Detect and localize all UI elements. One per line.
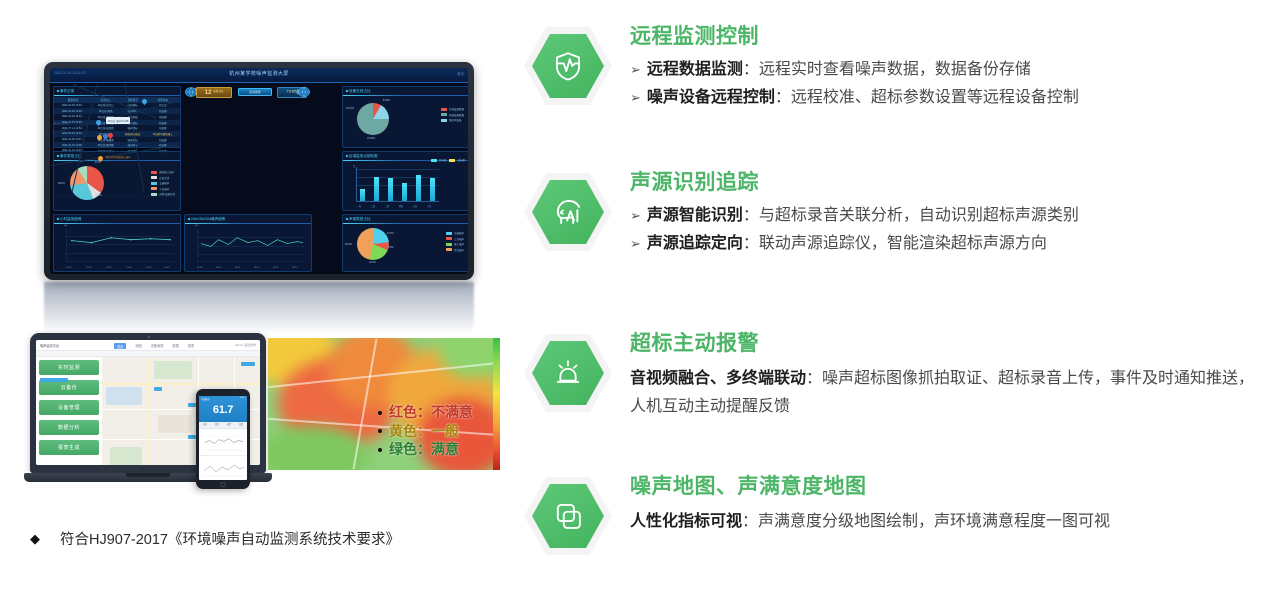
axis-tick: 四区	[399, 204, 403, 208]
sidebar-item-realtime[interactable]: 实时监测	[39, 360, 99, 375]
legend-swatch	[151, 187, 157, 190]
dashboard-title: 杭州某学校噪声监测大屏	[50, 70, 468, 77]
legend-swatch	[151, 171, 157, 174]
bullet-dot	[378, 429, 382, 433]
legend-swatch	[441, 113, 447, 116]
map-road	[102, 383, 260, 385]
widget-realtime-button[interactable]: 实时监测	[238, 88, 272, 96]
pie-chart-device-online	[357, 103, 389, 135]
pie-label: 8.33%	[383, 99, 390, 102]
panel-pie-event-type: 事件类型占比 34.8% 9.1% 28.6% 18.2% 建筑施工噪声 社会生…	[53, 151, 181, 211]
arrow-bullet-icon: ➢	[630, 86, 641, 110]
left-visuals-column: 2021-01-15 13:02:23 杭州某学校噪声监测大屏 首页 事件记录 …	[0, 0, 520, 598]
axis-tick: 六区	[427, 204, 431, 208]
pie-label: 8.5%	[388, 246, 393, 249]
panel-title-line-left: 小时监测趋势	[54, 215, 180, 224]
legend-item: 离线设备数量	[441, 113, 464, 117]
sidebar-item-report-gen[interactable]: 报表生成	[39, 440, 99, 455]
satisfaction-heatmap: 红色：不满意 黄色：一般 绿色：满意	[268, 338, 500, 470]
legend-label: 在线设备数量	[449, 107, 464, 111]
pie-label: 23.0%	[387, 232, 394, 235]
bar-chart-area	[356, 167, 439, 202]
legend-swatch	[441, 119, 447, 122]
line-svg	[197, 229, 305, 262]
tab-trend[interactable]: 趋势	[211, 422, 223, 428]
bullet-strong: 远程数据监测	[647, 61, 743, 78]
feature-2-text: 声源识别追踪 ➢ 声源智能识别：与超标录音关联分析，自动识别超标声源类别 ➢ 声…	[616, 164, 1268, 260]
legend-item: 社会生活	[151, 176, 175, 180]
line-chart-trend	[197, 229, 305, 262]
legend-item: 生活噪声	[446, 248, 464, 252]
carrier-label: 中国移动	[201, 397, 210, 401]
menu-item-home[interactable]: 首页	[114, 343, 126, 349]
feature-4-text: 噪声地图、声满意度地图 人性化指标可视：声满意度分级地图绘制，声环境满意程度一图…	[616, 468, 1268, 564]
ai-head-icon	[551, 195, 585, 229]
menu-item-map[interactable]: 地图	[135, 343, 141, 349]
app-sidebar: 实时监测 云备份 设备管理 数据分析 报表生成	[36, 357, 102, 465]
hex-badge-4	[520, 468, 616, 564]
legend-label: 离线设备数量	[449, 113, 464, 117]
webcam-icon	[148, 336, 150, 338]
feature-4-paragraph: 人性化指标可视：声满意度分级地图绘制，声环境满意程度一图可视	[630, 508, 1268, 536]
gridline	[356, 185, 439, 186]
feature-1-text: 远程监测控制 ➢ 远程数据监测：远程实时查看噪声数据，数据备份存储 ➢ 噪声设备…	[616, 18, 1268, 114]
axis-tick: 16:00	[164, 267, 169, 269]
phone-header: 中国移动 100% 61.7	[199, 396, 247, 422]
map-block	[106, 387, 142, 405]
tab-alarm[interactable]: 报警	[223, 422, 235, 428]
axis-tick: 01/11	[235, 267, 240, 269]
legend-label: 其他/设备异常	[159, 192, 175, 196]
dashboard-header: 2021-01-15 13:02:23 杭州某学校噪声监测大屏 首页	[50, 68, 468, 83]
feature-3-paragraph: 音视频融合、多终端联动：噪声超标图像抓拍取证、超标录音上传，事件及时通知推送，人…	[630, 365, 1268, 420]
map-label: ·····	[162, 453, 166, 455]
pie-label: 28.6%	[58, 182, 65, 185]
slide-root: 2021-01-15 13:02:23 杭州某学校噪声监测大屏 首页 事件记录 …	[0, 0, 1268, 598]
legend-label: 社会生活	[159, 176, 169, 180]
hex-badge-2	[520, 164, 616, 260]
legend-swatch	[431, 159, 437, 162]
axis-tick: 01/12	[254, 267, 259, 269]
legend-label: 施工噪声	[454, 242, 464, 246]
legend-item: 绿色：满意	[378, 441, 473, 459]
panel-pie-source-type: 声源类型占比 23.0% 8.5% 22.0% 46.5% 交通噪声 工业噪声 …	[342, 214, 468, 272]
axis-tick: 二区	[371, 204, 375, 208]
layers-copy-icon	[551, 499, 585, 533]
app-menu: 首页 地图 设备管理 数据 报表	[114, 343, 194, 349]
legend-label-satisfied: 绿色：满意	[389, 441, 459, 459]
feature-2-line-2: ➢ 声源追踪定向：联动声源追踪仪，智能渲染超标声源方向	[630, 232, 1268, 257]
bullet-dot	[378, 448, 382, 452]
axis-tick: 13:00	[106, 267, 111, 269]
legend-label: 超标数	[439, 158, 447, 162]
battery-label: 100%	[239, 397, 245, 401]
legend-item: 超标数	[431, 158, 447, 162]
bar	[360, 189, 365, 201]
map-road	[148, 357, 150, 465]
sidebar-active-tag	[40, 378, 68, 382]
bullet-rest: ：远程实时查看噪声数据，数据备份存储	[743, 61, 1031, 78]
panel-title-pie-right: 设备在线占比	[343, 87, 468, 96]
map-alert-note: 超标声源 建筑施工噪声	[106, 156, 131, 159]
panel-line-hourly: 小时监测趋势	[53, 214, 181, 272]
legend-item: 黄色：一般	[378, 423, 473, 441]
sidebar-item-data-analysis[interactable]: 数据分析	[39, 420, 99, 435]
map-pin-red[interactable]	[108, 133, 113, 140]
bar	[374, 177, 379, 201]
map-label: ·····	[110, 377, 114, 379]
panel-title-events: 事件记录	[54, 87, 180, 96]
phone-mockup: 中国移动 100% 61.7 实时 趋势 报警 设置	[196, 389, 250, 489]
diamond-bullet-icon: ◆	[30, 531, 40, 547]
legend-label: 建筑施工噪声	[159, 170, 174, 174]
legend-item: 工业噪声	[151, 187, 175, 191]
feature-2-line-1: ➢ 声源智能识别：与超标录音关联分析，自动识别超标声源类别	[630, 204, 1268, 229]
map-pin-orange[interactable]	[97, 135, 102, 142]
axis-ylabel: dB	[195, 225, 198, 227]
pie-label: 46.5%	[345, 243, 352, 246]
phone-statusbar: 中国移动 100%	[199, 396, 247, 402]
laptop-notch	[126, 473, 170, 477]
pie-label: 16.67%	[346, 107, 354, 110]
globe-glyph	[295, 86, 311, 99]
bar	[416, 175, 421, 201]
map-pin-blue[interactable]	[142, 99, 147, 106]
dashboard-corner-label: 首页	[457, 71, 464, 76]
app-logo: 噪声监测平台	[40, 343, 59, 348]
phone-line-svg-2	[199, 456, 247, 480]
panel-title-line-mid: 24h/15d/30d噪声趋势	[185, 215, 311, 224]
realtime-button-label: 实时监测	[249, 90, 260, 94]
shield-pulse-icon	[551, 49, 585, 83]
legend-swatch	[151, 193, 157, 196]
gridline	[356, 177, 439, 178]
standard-caption: ◆ 符合HJ907-2017《环境噪声自动监测系统技术要求》	[30, 528, 510, 549]
paragraph-rest: ：声满意度分级地图绘制，声环境满意程度一图可视	[742, 513, 1110, 530]
alarm-light-icon	[551, 356, 585, 390]
legend-swatch	[151, 182, 157, 185]
caption-text: 符合HJ907-2017《环境噪声自动监测系统技术要求》	[60, 528, 400, 549]
tab-realtime[interactable]: 实时	[199, 422, 211, 428]
legend-label-average: 黄色：一般	[389, 423, 459, 441]
map-block	[110, 447, 142, 465]
axis-tick: 01/09	[197, 267, 202, 269]
feature-noise-map: 噪声地图、声满意度地图 人性化指标可视：声满意度分级地图绘制，声环境满意程度一图…	[520, 468, 1268, 564]
legend-swatch	[151, 176, 157, 179]
panel-bar-area: 区域监测点超标数 超标数 达标数	[342, 151, 468, 211]
legend-label: 工业噪声	[454, 237, 464, 241]
feature-1-line-1: ➢ 远程数据监测：远程实时查看噪声数据，数据备份存储	[630, 58, 1268, 83]
legend-item: 达标数	[449, 158, 465, 162]
bullet-rest: ：远程校准、超标参数设置等远程设备控制	[775, 89, 1079, 106]
axis-tick: 一区	[357, 204, 361, 208]
axis-ylabel: 次	[353, 164, 355, 168]
legend-label: 达标数	[457, 158, 465, 162]
noise-value: 61.7	[199, 404, 247, 416]
legend-item: 工业噪声	[446, 237, 464, 241]
legend-swatch	[446, 237, 452, 240]
axis-tick: 14:00	[126, 267, 131, 269]
legend-swatch	[446, 248, 452, 251]
legend-swatch	[446, 232, 452, 235]
arrow-bullet-icon: ➢	[630, 204, 641, 228]
bullet-strong: 噪声设备远程控制	[647, 89, 775, 106]
legend-pie-event-type: 建筑施工噪声 社会生活 交通噪声 工业噪声 其他/设备异常	[151, 170, 175, 198]
pie-chart-source-type	[357, 228, 389, 260]
bullet-strong: 声源智能识别	[647, 207, 743, 224]
map-block	[158, 415, 192, 433]
legend-item: 红色：不满意	[378, 404, 473, 422]
panel-pie-device-online: 设备在线占比 8.33% 16.67% 75.00% 在线设备数量 离线设备数量…	[342, 86, 468, 148]
map-marker[interactable]	[188, 403, 196, 407]
map-layer-button[interactable]	[241, 362, 255, 366]
map-area-note: 杭州市 某学校	[54, 123, 68, 126]
legend-item: 建筑施工噪声	[151, 170, 175, 174]
phone-home-button[interactable]	[221, 482, 226, 487]
line-svg	[66, 229, 174, 262]
dashboard-screen: 2021-01-15 13:02:23 杭州某学校噪声监测大屏 首页 事件记录 …	[50, 68, 468, 274]
axis-tick: 五区	[413, 204, 417, 208]
axis-tick: 01/13	[273, 267, 278, 269]
feature-4-heading: 噪声地图、声满意度地图	[630, 470, 1268, 500]
legend-label: 交通噪声	[454, 231, 464, 235]
tab-settings[interactable]: 设置	[235, 422, 247, 428]
legend-label: 生活噪声	[454, 248, 464, 252]
paragraph-strong: 人性化指标可视	[630, 513, 742, 530]
phone-chart-bottom	[199, 456, 247, 480]
menu-item-data[interactable]: 数据	[173, 343, 179, 349]
axis-tick: 01/10	[216, 267, 221, 269]
feature-remote-monitoring: 远程监测控制 ➢ 远程数据监测：远程实时查看噪声数据，数据备份存储 ➢ 噪声设备…	[520, 18, 1268, 114]
map-pin-orange[interactable]	[98, 156, 103, 163]
monitor-reflection	[44, 282, 474, 334]
legend-item: 维修中设备	[441, 118, 464, 122]
panel-title-pie-right2: 声源类型占比	[343, 215, 468, 224]
map-tooltip: 2#点位 噪声63.2dB	[106, 117, 130, 124]
features-column: 远程监测控制 ➢ 远程数据监测：远程实时查看噪声数据，数据备份存储 ➢ 噪声设备…	[520, 0, 1268, 598]
feature-3-heading: 超标主动报警	[630, 327, 1268, 357]
legend-swatch	[446, 243, 452, 246]
menu-item-devices[interactable]: 设备管理	[151, 343, 164, 349]
gridline	[356, 169, 439, 170]
bar	[388, 178, 393, 201]
map-block	[154, 361, 192, 379]
phone-line-svg	[199, 429, 247, 455]
legend-swatch	[441, 108, 447, 111]
sidebar-item-cloud-backup[interactable]: 云备份	[39, 380, 99, 395]
bar	[430, 178, 435, 201]
feature-source-identification: 声源识别追踪 ➢ 声源智能识别：与超标录音关联分析，自动识别超标声源类别 ➢ 声…	[520, 164, 1268, 260]
legend-label: 交通噪声	[159, 181, 169, 185]
map-pin-blue[interactable]	[96, 120, 101, 127]
app-navbar: 噪声监测平台 首页 地图 设备管理 数据 报表 admin 退出登录	[36, 340, 260, 351]
arrow-bullet-icon: ➢	[630, 58, 641, 82]
arrow-bullet-icon: ➢	[630, 232, 641, 256]
widget-monitor-count[interactable]: 12 监测 点位	[196, 87, 232, 98]
menu-item-reports[interactable]: 报表	[188, 343, 194, 349]
axis-tick: 三区	[385, 204, 389, 208]
legend-item: 在线设备数量	[441, 107, 464, 111]
monitor-count-value: 12	[205, 90, 212, 96]
hex-badge-3	[520, 325, 616, 421]
hex-badge-1	[520, 18, 616, 114]
legend-device-online: 在线设备数量 离线设备数量 维修中设备	[441, 107, 464, 124]
pie-label: 18.2%	[95, 194, 102, 197]
bullet-dot	[378, 411, 382, 415]
heatmap-legend: 红色：不满意 黄色：一般 绿色：满意	[378, 404, 473, 460]
axis-tick: 12:00	[86, 267, 91, 269]
line-chart-hourly	[66, 229, 174, 262]
bar	[402, 183, 407, 201]
axis-tick: 11:00	[66, 267, 71, 269]
bullet-rest: ：与超标录音关联分析，自动识别超标声源类别	[743, 207, 1079, 224]
dashboard-monitor: 2021-01-15 13:02:23 杭州某学校噪声监测大屏 首页 事件记录 …	[44, 62, 474, 280]
pie-label: 75.00%	[367, 137, 375, 140]
phone-tabs: 实时 趋势 报警 设置	[199, 422, 247, 429]
bullet-rest: ：联动声源追踪仪，智能渲染超标声源方向	[743, 235, 1047, 252]
panel-line-trend: 24h/15d/30d噪声趋势 dB	[184, 214, 312, 272]
axis-ylabel: dB	[64, 225, 67, 227]
legend-label: 维修中设备	[449, 118, 462, 122]
legend-item: 交通噪声	[151, 181, 175, 185]
legend-item: 施工噪声	[446, 242, 464, 246]
sidebar-item-device-mgmt[interactable]: 设备管理	[39, 400, 99, 415]
paragraph-strong: 音视频融合、多终端联动	[630, 370, 806, 387]
monitor-count-label: 监测 点位	[213, 91, 223, 94]
bar-x-axis	[356, 201, 439, 202]
feature-2-heading: 声源识别追踪	[630, 166, 1268, 196]
phone-screen: 中国移动 100% 61.7 实时 趋势 报警 设置	[199, 396, 247, 480]
map-marker[interactable]	[154, 387, 162, 391]
legend-label: 工业噪声	[159, 187, 169, 191]
axis-tick: 15:00	[146, 267, 151, 269]
pie-label: 22.0%	[369, 261, 376, 264]
axis-tick: 01/14	[292, 267, 297, 269]
globe-icon-right	[295, 86, 311, 99]
legend-item: 其他/设备异常	[151, 192, 175, 196]
legend-item: 交通噪声	[446, 231, 464, 235]
feature-active-alarm: 超标主动报警 音视频融合、多终端联动：噪声超标图像抓拍取证、超标录音上传，事件及…	[520, 325, 1268, 421]
feature-1-heading: 远程监测控制	[630, 20, 1268, 50]
dashboard-top-widgets: 12 监测 点位 实时监测 今日 报警 6	[184, 86, 312, 100]
feature-1-line-2: ➢ 噪声设备远程控制：远程校准、超标参数设置等远程设备控制	[630, 86, 1268, 111]
legend-label-unsatisfied: 红色：不满意	[389, 404, 473, 422]
feature-3-text: 超标主动报警 音视频融合、多终端联动：噪声超标图像抓拍取证、超标录音上传，事件及…	[616, 325, 1268, 421]
legend-bar-area: 超标数 达标数	[431, 158, 465, 162]
legend-source-type: 交通噪声 工业噪声 施工噪声 生活噪声	[446, 231, 464, 253]
map-marker[interactable]	[188, 435, 196, 439]
legend-swatch	[449, 159, 455, 162]
dashboard-body: 事件记录 报警时间 监测点位 报警类型 处理状态 2021-01-15 13:0…	[50, 83, 468, 274]
phone-chart-top	[199, 429, 247, 456]
heatmap-color-scale	[493, 338, 500, 470]
bullet-strong: 声源追踪定向	[647, 235, 743, 252]
user-menu[interactable]: admin 退出登录	[235, 343, 256, 347]
